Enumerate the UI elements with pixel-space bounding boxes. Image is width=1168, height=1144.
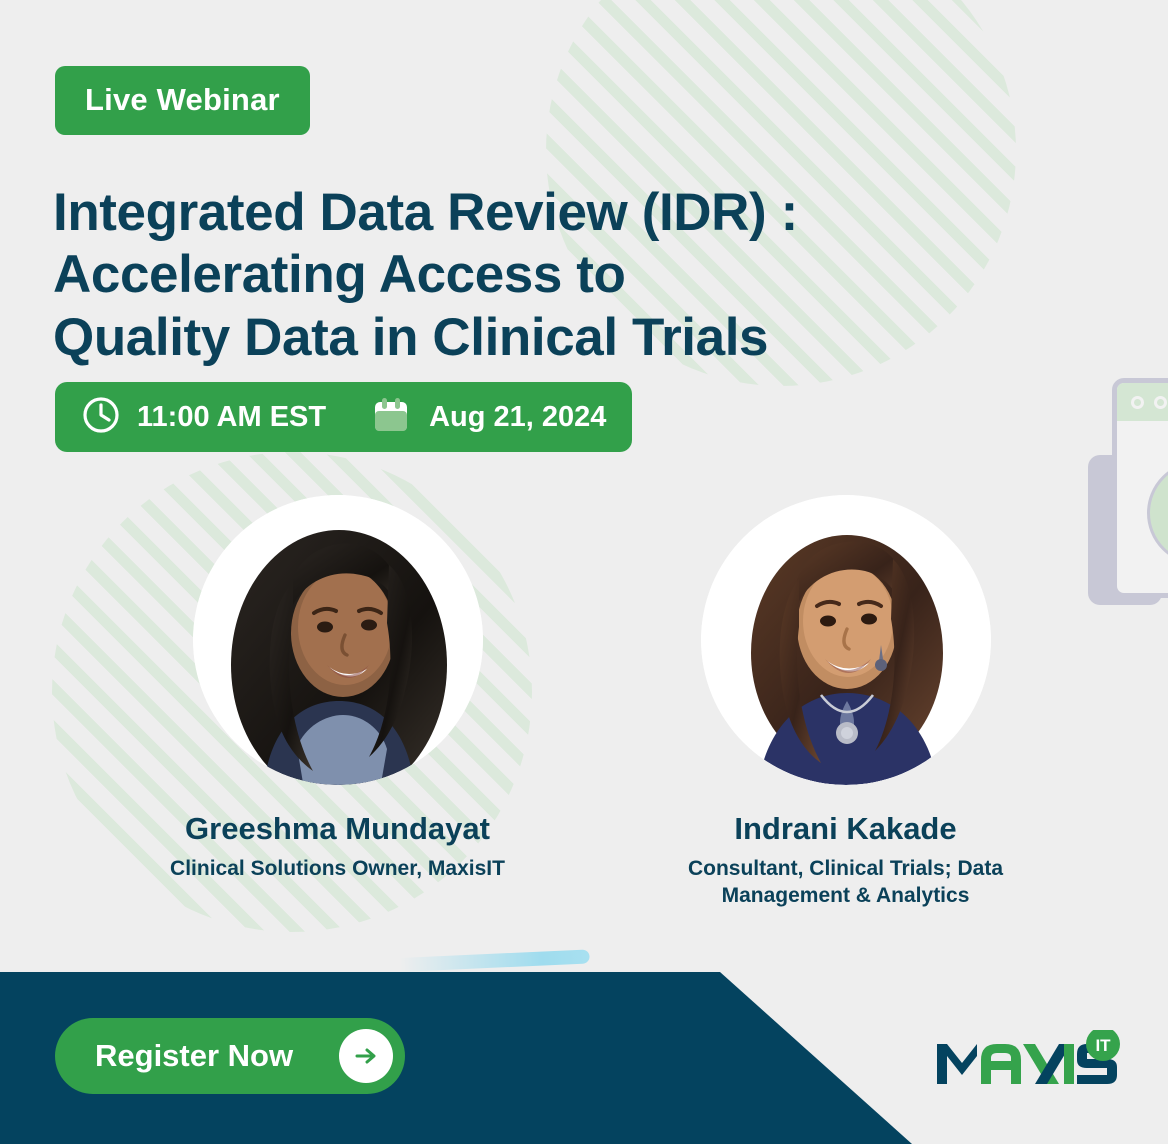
- date-group: Aug 21, 2024: [371, 395, 606, 440]
- live-webinar-badge: Live Webinar: [55, 66, 310, 135]
- page-title-line-1: Integrated Data Review (IDR) :: [53, 182, 933, 245]
- page-title-line-3: Quality Data in Clinical Trials: [53, 307, 933, 370]
- webinar-date: Aug 21, 2024: [429, 401, 606, 434]
- page-title: Integrated Data Review (IDR) : Accelerat…: [53, 182, 933, 370]
- register-now-button[interactable]: Register Now: [55, 1018, 405, 1094]
- speaker-photo-0: [193, 495, 483, 785]
- page-title-line-2: Accelerating Access to: [53, 244, 933, 307]
- svg-text:IT: IT: [1095, 1036, 1111, 1055]
- speaker-role-1: Consultant, Clinical Trials; Data Manage…: [638, 856, 1053, 910]
- speaker-role-0: Clinical Solutions Owner, MaxisIT: [130, 856, 545, 883]
- webinar-time: 11:00 AM EST: [137, 401, 326, 434]
- time-group: 11:00 AM EST: [81, 395, 326, 440]
- blue-accent-line-decoration: [399, 949, 589, 972]
- register-button-label: Register Now: [95, 1038, 293, 1074]
- schedule-bar: 11:00 AM EST Aug 21, 2024: [55, 382, 632, 452]
- window-dot-icon-2: [1154, 396, 1167, 409]
- window-dot-icon-1: [1131, 396, 1144, 409]
- speaker-card-0: Greeshma Mundayat Clinical Solutions Own…: [130, 495, 545, 883]
- speaker-card-1: Indrani Kakade Consultant, Clinical Tria…: [638, 495, 1053, 909]
- calendar-icon: [371, 395, 411, 440]
- webinar-promo-canvas: Live Webinar Integrated Data Review (IDR…: [0, 0, 1168, 1144]
- clock-icon: [81, 395, 121, 440]
- speaker-name-1: Indrani Kakade: [638, 811, 1053, 847]
- browser-window-titlebar: [1117, 383, 1168, 421]
- window-content-circle-decoration: [1147, 461, 1168, 565]
- speaker-name-0: Greeshma Mundayat: [130, 811, 545, 847]
- avatar: [193, 495, 483, 785]
- maxisit-logo: IT: [935, 1030, 1120, 1092]
- avatar: [701, 495, 991, 785]
- browser-window-illustration: [1112, 378, 1168, 598]
- arrow-right-icon: [339, 1029, 393, 1083]
- speaker-photo-1: [701, 495, 991, 785]
